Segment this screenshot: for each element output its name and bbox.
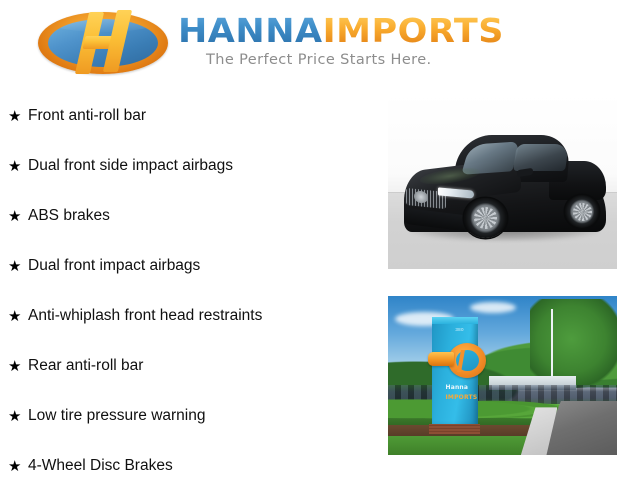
page-header: HANNAIMPORTS The Perfect Price Starts He… <box>0 0 640 88</box>
feature-label: Rear anti-roll bar <box>28 357 143 376</box>
list-item: ★ Dual front side impact airbags <box>0 141 380 191</box>
feature-label: ABS brakes <box>28 207 110 226</box>
sign-logo-bar <box>428 352 454 366</box>
sign-brand-line2: IMPORTS <box>445 394 477 401</box>
list-item: ★ Rear anti-roll bar <box>0 341 380 391</box>
vehicle-photo[interactable] <box>388 93 617 269</box>
vehicle-side-window <box>513 144 569 171</box>
brand-logo-lockup[interactable]: HANNAIMPORTS The Perfect Price Starts He… <box>34 6 486 80</box>
star-bullet-icon: ★ <box>8 409 28 424</box>
hanna-oval-h-logo-icon <box>34 6 172 80</box>
list-item: ★ 4-Wheel Disc Brakes <box>0 441 380 491</box>
sign-brick-base <box>429 424 480 435</box>
sign-cap <box>432 317 478 324</box>
list-item: ★ Dual front impact airbags <box>0 241 380 291</box>
sign-brand-line1: Hanna <box>445 384 468 391</box>
star-bullet-icon: ★ <box>8 109 28 124</box>
star-bullet-icon: ★ <box>8 459 28 474</box>
list-item: ★ Anti-whiplash front head restraints <box>0 291 380 341</box>
sign-address-number: 380 <box>455 327 463 332</box>
vehicle-features-list: ★ Front anti-roll bar ★ Dual front side … <box>0 91 380 491</box>
star-bullet-icon: ★ <box>8 309 28 324</box>
star-bullet-icon: ★ <box>8 259 28 274</box>
vehicle-front-wheel <box>464 198 506 237</box>
monument-sign: 380 Hanna IMPORTS <box>427 317 489 435</box>
star-bullet-icon: ★ <box>8 359 28 374</box>
feature-label: Low tire pressure warning <box>28 407 205 426</box>
brand-tagline: The Perfect Price Starts Here. <box>206 52 486 68</box>
brand-wordmark-block: HANNAIMPORTS The Perfect Price Starts He… <box>178 14 486 68</box>
feature-label: Dual front impact airbags <box>28 257 200 276</box>
star-bullet-icon: ★ <box>8 209 28 224</box>
feature-label: Front anti-roll bar <box>28 107 146 126</box>
star-bullet-icon: ★ <box>8 159 28 174</box>
brand-wordmark: HANNAIMPORTS <box>178 14 504 47</box>
feature-label: Anti-whiplash front head restraints <box>28 307 262 326</box>
vehicle-body <box>404 135 606 234</box>
list-item: ★ Low tire pressure warning <box>0 391 380 441</box>
feature-label: 4-Wheel Disc Brakes <box>28 457 173 476</box>
feature-label: Dual front side impact airbags <box>28 157 233 176</box>
list-item: ★ Front anti-roll bar <box>0 91 380 141</box>
dealership-photo[interactable]: 380 Hanna IMPORTS <box>388 296 617 455</box>
list-item: ★ ABS brakes <box>0 191 380 241</box>
wordmark-imports: IMPORTS <box>323 11 504 50</box>
wordmark-hanna: HANNA <box>178 11 323 50</box>
